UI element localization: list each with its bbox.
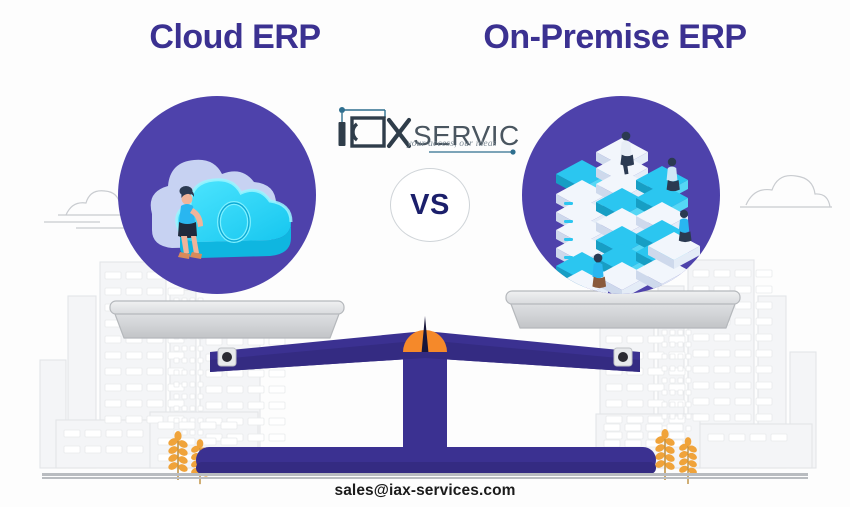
cloud-erp-illustration-circle [118,96,316,294]
person-figure-right [667,158,680,191]
vs-label: VS [410,189,450,222]
contact-email[interactable]: sales@iax-services.com [0,482,850,500]
footer-divider [42,477,808,479]
logo-tagline: your access, our ideas [392,139,512,149]
isometric-cloud-icon [118,96,316,294]
isometric-server-stack-icon [522,96,720,294]
person-figure-side [679,210,692,242]
on-premise-erp-illustration-circle [522,96,720,294]
iax-services-logo[interactable]: SERVICES [333,104,519,160]
balance-scale [0,0,850,507]
scale-column [403,352,447,454]
ground-line [42,473,808,476]
logo-end-dot [510,149,515,154]
page-title-cloud-erp: Cloud ERP [60,18,410,57]
infographic-canvas: Cloud ERP On-Premise ERP [0,0,850,507]
vs-badge: VS [390,168,470,242]
page-title-on-premise-erp: On-Premise ERP [440,18,790,57]
